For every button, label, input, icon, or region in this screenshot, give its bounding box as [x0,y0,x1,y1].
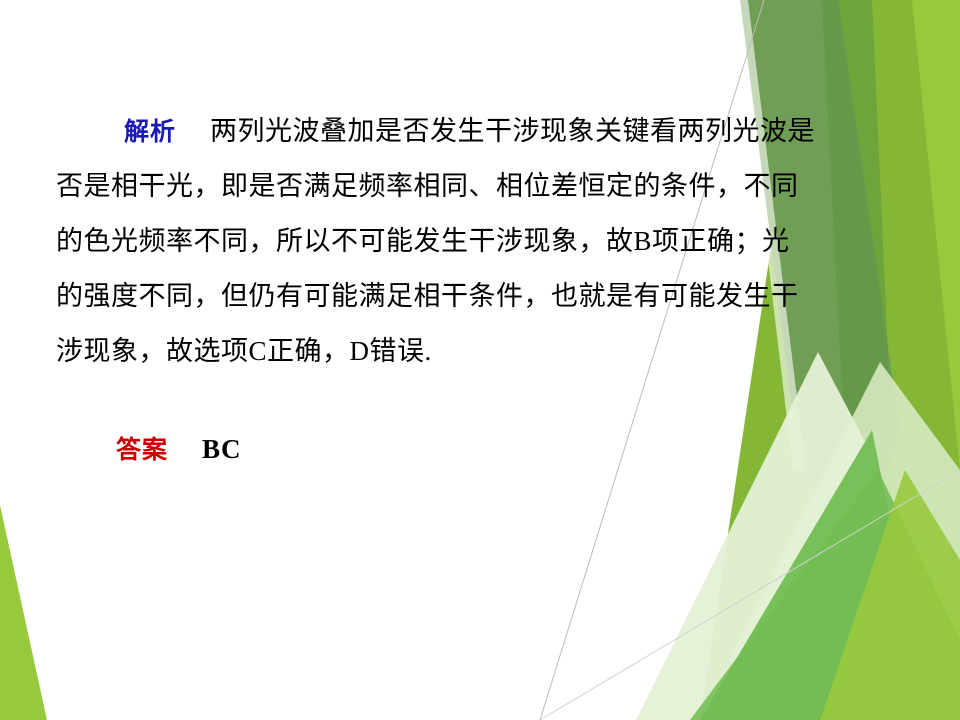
analysis-line-1: 解析两列光波叠加是否发生干涉现象关键看两列光波是 [56,104,896,159]
analysis-line-5: 涉现象，故选项C正确，D错误. [56,324,896,379]
analysis-line-2: 否是相干光，即是否满足频率相同、相位差恒定的条件，不同 [56,159,896,214]
answer-paragraph: 答案BC [56,430,896,466]
analysis-line-4-text: 的强度不同，但仍有可能满足相干条件，也就是有可能发生干 [56,281,799,311]
analysis-line-3: 的色光频率不同，所以不可能发生干涉现象，故B项正确；光 [56,214,896,269]
analysis-line-3-text: 的色光频率不同，所以不可能发生干涉现象，故B项正确；光 [56,226,790,256]
answer-value: BC [202,434,242,464]
analysis-line-2-text: 否是相干光，即是否满足频率相同、相位差恒定的条件，不同 [56,171,799,201]
analysis-line-4: 的强度不同，但仍有可能满足相干条件，也就是有可能发生干 [56,269,896,324]
answer-label: 答案 [116,435,168,464]
slide-canvas: 解析两列光波叠加是否发生干涉现象关键看两列光波是 否是相干光，即是否满足频率相同… [0,0,960,720]
analysis-line-5-text: 涉现象，故选项C正确，D错误. [56,336,432,366]
analysis-line-1-text: 两列光波叠加是否发生干涉现象关键看两列光波是 [210,116,815,146]
analysis-label: 解析 [124,117,176,146]
slide-content: 解析两列光波叠加是否发生干涉现象关键看两列光波是 否是相干光，即是否满足频率相同… [0,0,960,720]
analysis-paragraph: 解析两列光波叠加是否发生干涉现象关键看两列光波是 否是相干光，即是否满足频率相同… [56,104,896,379]
